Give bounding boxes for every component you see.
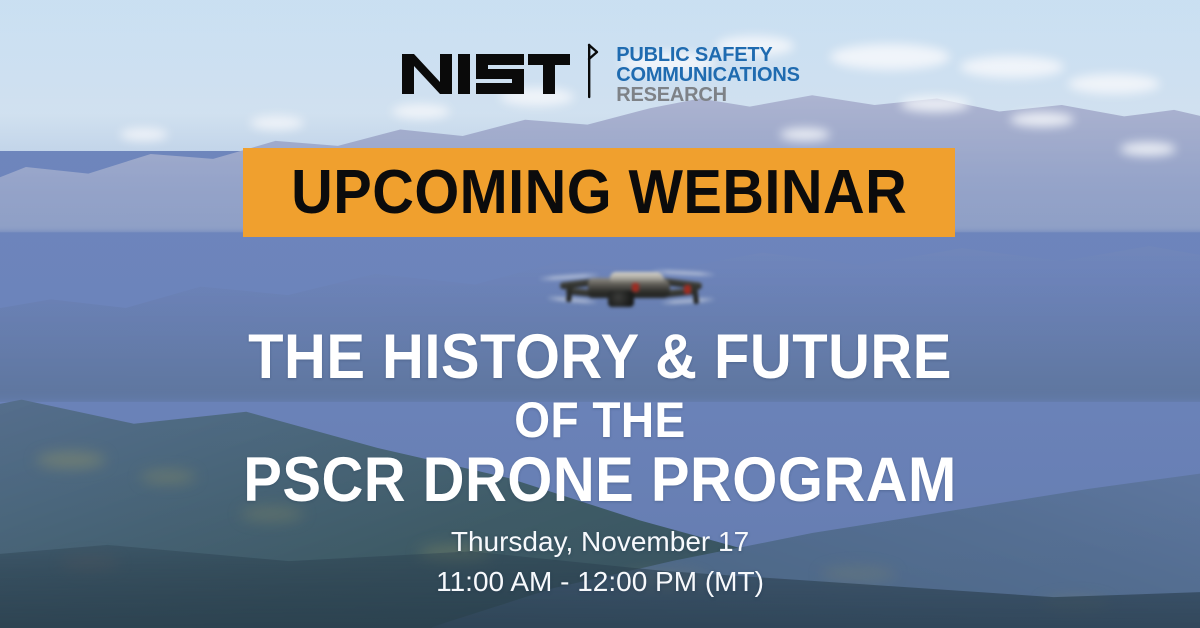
title-line-2: OF THE	[48, 395, 1152, 445]
webinar-date: Thursday, November 17	[0, 522, 1200, 562]
pscr-line-public-safety: PUBLIC SAFETY	[616, 45, 799, 65]
drone-accent-marker	[632, 283, 639, 292]
title-line-3: PSCR DRONE PROGRAM	[48, 449, 1152, 512]
pscr-line-research: RESEARCH	[616, 85, 799, 105]
pscr-program-name: PUBLIC SAFETY COMMUNICATIONS RESEARCH	[616, 45, 799, 105]
pscr-line-communications: COMMUNICATIONS	[616, 65, 799, 85]
chevron-right-divider-icon	[586, 43, 602, 99]
webinar-title: THE HISTORY & FUTURE OF THE PSCR DRONE P…	[0, 326, 1200, 512]
quadcopter-drone-icon	[536, 258, 716, 320]
title-line-1: THE HISTORY & FUTURE	[48, 326, 1152, 389]
upcoming-webinar-banner: UPCOMING WEBINAR	[243, 148, 955, 237]
nist-wordmark-icon	[400, 42, 572, 98]
propeller-blur	[660, 297, 716, 305]
drone-accent-marker	[684, 285, 691, 294]
drone-top-shell	[610, 272, 664, 283]
webinar-schedule: Thursday, November 17 11:00 AM - 12:00 P…	[0, 522, 1200, 602]
banner-label: UPCOMING WEBINAR	[291, 162, 907, 224]
nist-pscr-logo-lockup: PUBLIC SAFETY COMMUNICATIONS RESEARCH	[0, 42, 1200, 105]
webinar-poster: PUBLIC SAFETY COMMUNICATIONS RESEARCH UP…	[0, 0, 1200, 628]
webinar-time: 11:00 AM - 12:00 PM (MT)	[0, 562, 1200, 602]
drone-camera-gimbal	[608, 291, 634, 307]
